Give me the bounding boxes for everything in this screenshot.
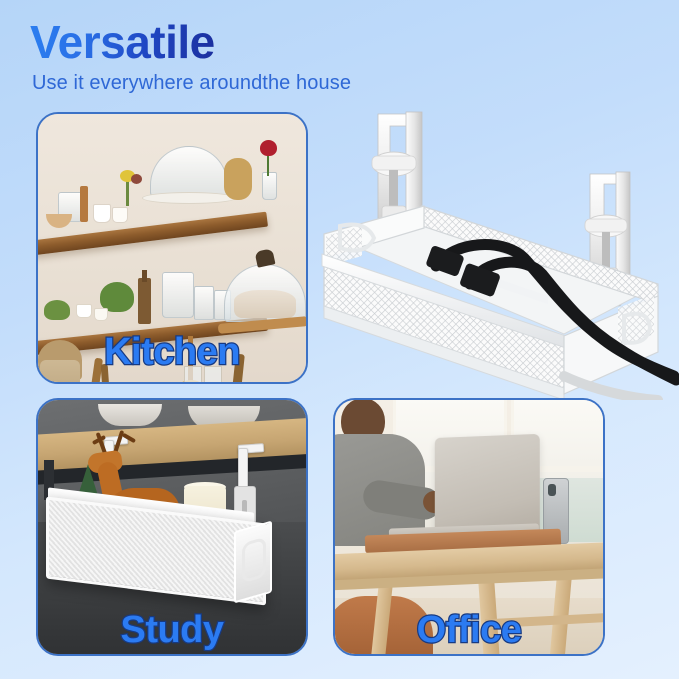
storage-jar-2-icon xyxy=(204,366,222,384)
dark-flower-icon xyxy=(131,174,142,184)
panel-office[interactable]: Office xyxy=(333,398,605,656)
bottle-icon xyxy=(138,278,151,324)
red-rose-icon xyxy=(260,140,277,156)
panel-study[interactable]: Study xyxy=(36,398,308,656)
ceramic-cup-small-icon xyxy=(112,207,128,223)
infographic-canvas: Versatile Use it everywhere aroundthe ho… xyxy=(0,0,679,679)
copper-canister-icon xyxy=(80,186,88,222)
ceramic-cup-icon xyxy=(93,204,111,223)
bottle-neck-icon xyxy=(142,270,147,282)
bud-vase-icon xyxy=(262,172,277,200)
potted-plant-small-icon xyxy=(44,300,70,320)
glass-pitcher-icon xyxy=(162,272,194,318)
product-hero-image xyxy=(318,108,679,400)
serving-plate-icon xyxy=(142,192,236,204)
tumbler-icon xyxy=(194,286,214,320)
panel-kitchen[interactable]: Kitchen xyxy=(36,112,308,384)
counter-surface xyxy=(38,382,306,384)
study-scene xyxy=(38,400,306,654)
kitchen-scene xyxy=(38,114,306,382)
office-scene xyxy=(335,400,603,654)
small-cup-2-icon xyxy=(94,308,108,321)
phone-camera-icon xyxy=(548,484,556,496)
small-cup-icon xyxy=(76,304,92,318)
round-cutting-board-icon xyxy=(224,158,252,200)
laptop-screen-icon xyxy=(435,434,540,534)
page-subtitle: Use it everywhere aroundthe house xyxy=(32,72,650,95)
storage-jar-icon xyxy=(184,366,202,384)
page-title: Versatile xyxy=(30,18,215,66)
burlap-sack-icon xyxy=(40,360,80,384)
header: Versatile Use it everywhere aroundthe ho… xyxy=(30,18,650,95)
